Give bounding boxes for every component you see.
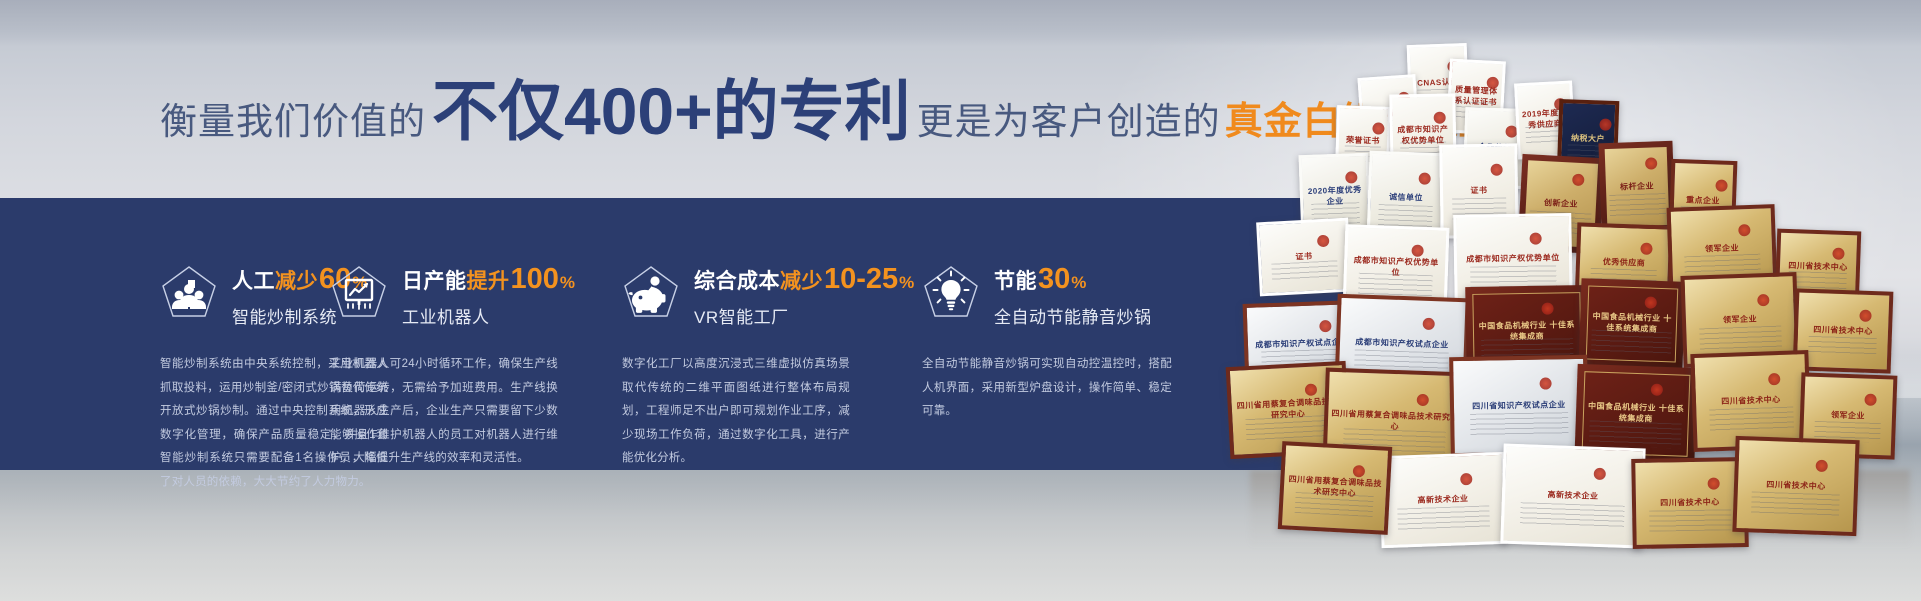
feature-header: 人工 减少 60 % 智能炒制系统 bbox=[160, 262, 330, 328]
certificate-face: 四川省技术中心 bbox=[1694, 354, 1807, 448]
headline-emphasis: 不仅400+的专利 bbox=[432, 78, 911, 144]
certificate-title: 诚信单位 bbox=[1386, 192, 1426, 204]
certificate-text-lines bbox=[1649, 509, 1731, 532]
feature-subtitle: VR智能工厂 bbox=[694, 303, 914, 328]
certificate-text-lines bbox=[1808, 336, 1877, 358]
feature-unit: % bbox=[1071, 274, 1086, 291]
feature-subtitle: 工业机器人 bbox=[402, 303, 575, 328]
feature-item: 综合成本 减少 10-25 % VR智能工厂 数字化工厂以高度沉浸式三维虚拟仿真… bbox=[622, 198, 922, 470]
feature-item: 节能 30 % 全自动节能静音炒锅 全自动节能静音炒锅可实现自动控温控时，搭配人… bbox=[922, 198, 1252, 470]
banner-stage: CNAS认证 质量管理体系认证证书 专利证书 荣誉证书 成都市知识产权优势单位 … bbox=[0, 0, 1921, 601]
piggy-bank-icon bbox=[622, 264, 680, 322]
headline-middle: 更是为客户创造的 bbox=[917, 91, 1221, 145]
feature-description: 全自动节能静音炒锅可实现自动控温控时，搭配人机界面，采用新型炉盘设计，操作简单、… bbox=[922, 353, 1172, 424]
feature-header: 综合成本 减少 10-25 % VR智能工厂 bbox=[622, 262, 922, 328]
certificate-face: 高新技术企业 bbox=[1503, 447, 1642, 546]
certificate-title: 四川省技术中心 bbox=[1763, 479, 1829, 492]
feature-header: 节能 30 % 全自动节能静音炒锅 bbox=[922, 262, 1252, 328]
feature-title: 节能 30 % bbox=[994, 265, 1152, 294]
certificate-plaque: 标杆企业 bbox=[1598, 141, 1675, 234]
certificate-plaque: 四川省技术中心 bbox=[1732, 436, 1859, 536]
certificate-title: 证书 bbox=[1467, 185, 1490, 196]
certificate-text-lines bbox=[1295, 492, 1374, 517]
certificate-title: 成都市知识产权优势单位 bbox=[1463, 253, 1563, 266]
feature-title-accent: 减少 bbox=[780, 271, 823, 292]
certificate-plaque: 高新技术企业 bbox=[1378, 452, 1507, 548]
feature-header: 日产能 提升 100 % 工业机器人 bbox=[330, 262, 622, 328]
certificate-text-lines bbox=[1591, 330, 1671, 356]
certificate-plaque: 四川省用蔡复合调味品技术研究中心 bbox=[1278, 441, 1392, 535]
certificate-text-lines bbox=[1609, 193, 1666, 218]
headline: 衡量我们价值的 不仅400+的专利 更是为客户创造的 真金白银的效益 bbox=[160, 78, 1498, 145]
chart-board-icon bbox=[330, 264, 388, 322]
certificate-text-lines bbox=[1520, 502, 1624, 530]
feature-value: 100 bbox=[511, 265, 559, 294]
certificate-title: 四川省技术中心 bbox=[1718, 394, 1784, 407]
people-group-icon bbox=[160, 264, 218, 322]
certificate-title: 高新技术企业 bbox=[1544, 490, 1601, 503]
feature-text-group: 日产能 提升 100 % 工业机器人 bbox=[402, 262, 575, 328]
feature-title: 综合成本 减少 10-25 % bbox=[694, 265, 914, 294]
feature-title-accent: 提升 bbox=[467, 271, 510, 292]
certificate-plaque: 四川省知识产权试点企业 bbox=[1449, 355, 1589, 457]
certificate-title: 创新企业 bbox=[1541, 198, 1582, 211]
certificate-title: 领军企业 bbox=[1702, 243, 1742, 255]
certificate-text-lines bbox=[1470, 412, 1569, 438]
feature-item: 人工 减少 60 % 智能炒制系统 智能炒制系统由中央系统控制，采用机器人抓取投… bbox=[0, 198, 330, 470]
certificate-title: 领军企业 bbox=[1828, 410, 1868, 422]
feature-unit: % bbox=[560, 274, 575, 291]
feature-list: 人工 减少 60 % 智能炒制系统 智能炒制系统由中央系统控制，采用机器人抓取投… bbox=[0, 198, 1414, 470]
certificate-text-lines bbox=[1358, 273, 1433, 296]
feature-title-prefix: 日产能 bbox=[402, 271, 467, 292]
certificate-text-lines bbox=[1751, 491, 1840, 517]
certificate-text-lines bbox=[1589, 420, 1681, 448]
certificate-plaque: 中国食品机械行业 十佳系统集成商 bbox=[1578, 278, 1685, 370]
feature-title-prefix: 节能 bbox=[994, 271, 1037, 292]
feature-description: 数字化工厂以高度沉浸式三维虚拟仿真场景取代传统的二维平面图纸进行整体布局规划，工… bbox=[622, 353, 850, 471]
certificate-text-lines bbox=[1246, 414, 1332, 440]
feature-unit: % bbox=[899, 274, 914, 291]
feature-title-prefix: 综合成本 bbox=[694, 271, 780, 292]
feature-title: 日产能 提升 100 % bbox=[402, 265, 575, 294]
certificate-text-lines bbox=[1699, 325, 1782, 350]
certificate-text-lines bbox=[1709, 407, 1793, 433]
feature-description: 工业机器人可24小时循环工作，确保生产线满负荷运转，无需给予加班费用。生产线换用… bbox=[330, 353, 558, 471]
feature-subtitle: 全自动节能静音炒锅 bbox=[994, 303, 1152, 328]
feature-value: 30 bbox=[1038, 265, 1070, 294]
certificate-face: 高新技术企业 bbox=[1382, 455, 1505, 545]
feature-title-accent: 减少 bbox=[275, 271, 318, 292]
feature-title-prefix: 人工 bbox=[232, 271, 275, 292]
certificate-plaque: 高新技术企业 bbox=[1500, 444, 1645, 549]
certificate-text-lines bbox=[1272, 261, 1338, 282]
certificate-face: 四川省技术中心 bbox=[1736, 440, 1855, 532]
certificate-face: 四川省技术中心 bbox=[1797, 292, 1890, 369]
feature-text-group: 节能 30 % 全自动节能静音炒锅 bbox=[994, 262, 1152, 328]
feature-panel: 人工 减少 60 % 智能炒制系统 智能炒制系统由中央系统控制，采用机器人抓取投… bbox=[0, 198, 1414, 470]
light-bulb-icon bbox=[922, 264, 980, 322]
certificate-face: 四川省技术中心 bbox=[1635, 461, 1744, 545]
certificate-text-lines bbox=[1398, 505, 1490, 531]
certificate-text-lines bbox=[1378, 204, 1432, 228]
certificate-face: 四川省知识产权试点企业 bbox=[1453, 359, 1585, 453]
certificate-title: 四川省技术中心 bbox=[1657, 497, 1723, 509]
certificate-face: 证书 bbox=[1259, 221, 1348, 293]
feature-item: 日产能 提升 100 % 工业机器人 工业机器人可24小时循环工作，确保生产线满… bbox=[330, 198, 622, 470]
headline-prefix: 衡量我们价值的 bbox=[160, 91, 426, 145]
certificate-title: 四川省知识产权试点企业 bbox=[1469, 400, 1569, 413]
certificate-wall: CNAS认证 质量管理体系认证证书 专利证书 荣誉证书 成都市知识产权优势单位 … bbox=[1240, 34, 1921, 534]
certificate-plaque: 四川省技术中心 bbox=[1631, 457, 1749, 549]
feature-value: 10-25 bbox=[824, 265, 898, 294]
certificate-face: 四川省用蔡复合调味品技术研究中心 bbox=[1282, 445, 1388, 530]
certificate-title: 高新技术企业 bbox=[1414, 494, 1471, 507]
certificate-plaque: 证书 bbox=[1256, 218, 1352, 297]
certificate-title: 领军企业 bbox=[1720, 314, 1760, 326]
certificate-title: 标杆企业 bbox=[1617, 181, 1657, 193]
feature-text-group: 综合成本 减少 10-25 % VR智能工厂 bbox=[694, 262, 914, 328]
